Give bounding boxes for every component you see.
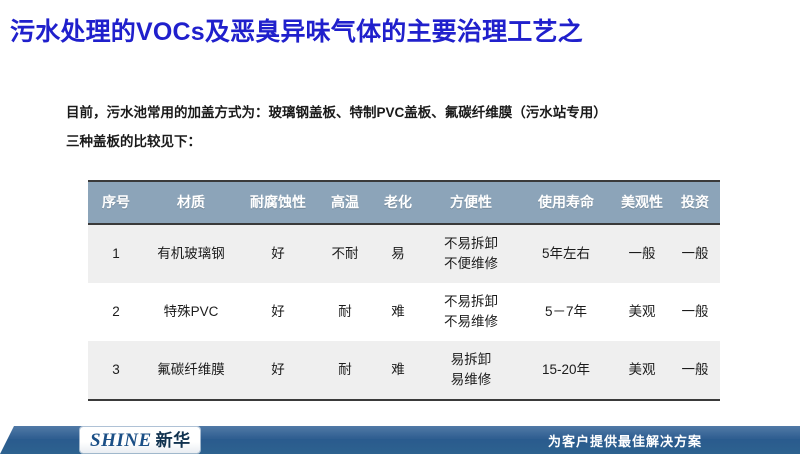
- cell-convenience-line-2: 易维修: [424, 370, 518, 390]
- body-line-2: 三种盖板的比较见下：: [66, 127, 766, 156]
- cell-high-temp: 不耐: [318, 224, 372, 283]
- comparison-table: 序号 材质 耐腐蚀性 高温 老化 方便性 使用寿命 美观性 投资 1 有机玻璃钢…: [88, 180, 720, 401]
- cell-aesthetics: 一般: [614, 224, 670, 283]
- column-header-no: 序号: [88, 181, 144, 224]
- cell-lifespan: 5年左右: [518, 224, 614, 283]
- cell-aesthetics: 美观: [614, 283, 670, 341]
- table-body: 1 有机玻璃钢 好 不耐 易 不易拆卸 不便维修 5年左右 一般 一般 2 特殊…: [88, 224, 720, 400]
- cell-aesthetics: 美观: [614, 341, 670, 400]
- slide-canvas: 污水处理的VOCs及恶臭异味气体的主要治理工艺之 目前，污水池常用的加盖方式为：…: [0, 0, 800, 454]
- cell-no: 1: [88, 224, 144, 283]
- cell-high-temp: 耐: [318, 283, 372, 341]
- body-paragraph: 目前，污水池常用的加盖方式为：玻璃钢盖板、特制PVC盖板、氟碳纤维膜（污水站专用…: [66, 98, 766, 156]
- cell-aging: 难: [372, 283, 424, 341]
- cell-aging: 难: [372, 341, 424, 400]
- slide-footer: SHINE 新华 为客户提供最佳解决方案: [0, 426, 800, 454]
- table-header-row: 序号 材质 耐腐蚀性 高温 老化 方便性 使用寿命 美观性 投资: [88, 181, 720, 224]
- cell-convenience: 不易拆卸 不便维修: [424, 224, 518, 283]
- cell-aging: 易: [372, 224, 424, 283]
- cell-convenience-line-1: 不易拆卸: [424, 234, 518, 254]
- cell-corrosion: 好: [238, 341, 318, 400]
- column-header-aesthetics: 美观性: [614, 181, 670, 224]
- cell-high-temp: 耐: [318, 341, 372, 400]
- cell-investment: 一般: [670, 283, 720, 341]
- company-logo: SHINE 新华: [80, 427, 200, 453]
- column-header-investment: 投资: [670, 181, 720, 224]
- cell-investment: 一般: [670, 341, 720, 400]
- body-line-1: 目前，污水池常用的加盖方式为：玻璃钢盖板、特制PVC盖板、氟碳纤维膜（污水站专用…: [66, 98, 766, 127]
- column-header-material: 材质: [144, 181, 238, 224]
- table-header: 序号 材质 耐腐蚀性 高温 老化 方便性 使用寿命 美观性 投资: [88, 181, 720, 224]
- table-row: 1 有机玻璃钢 好 不耐 易 不易拆卸 不便维修 5年左右 一般 一般: [88, 224, 720, 283]
- footer-tagline: 为客户提供最佳解决方案: [548, 426, 702, 454]
- column-header-convenience: 方便性: [424, 181, 518, 224]
- column-header-high-temp: 高温: [318, 181, 372, 224]
- cell-convenience: 不易拆卸 不易维修: [424, 283, 518, 341]
- cell-convenience-line-2: 不易维修: [424, 312, 518, 332]
- column-header-aging: 老化: [372, 181, 424, 224]
- comparison-table-wrapper: 序号 材质 耐腐蚀性 高温 老化 方便性 使用寿命 美观性 投资 1 有机玻璃钢…: [88, 180, 720, 401]
- column-header-corrosion: 耐腐蚀性: [238, 181, 318, 224]
- cell-investment: 一般: [670, 224, 720, 283]
- cell-corrosion: 好: [238, 224, 318, 283]
- cell-convenience-line-1: 不易拆卸: [424, 292, 518, 312]
- logo-text-en: SHINE: [90, 431, 152, 450]
- cell-convenience: 易拆卸 易维修: [424, 341, 518, 400]
- cell-lifespan: 5－7年: [518, 283, 614, 341]
- cell-material: 氟碳纤维膜: [144, 341, 238, 400]
- page-title: 污水处理的VOCs及恶臭异味气体的主要治理工艺之: [10, 17, 583, 48]
- cell-lifespan: 15-20年: [518, 341, 614, 400]
- column-header-lifespan: 使用寿命: [518, 181, 614, 224]
- logo-text-cn: 新华: [156, 432, 191, 449]
- cell-no: 2: [88, 283, 144, 341]
- cell-convenience-line-1: 易拆卸: [424, 350, 518, 370]
- cell-no: 3: [88, 341, 144, 400]
- cell-corrosion: 好: [238, 283, 318, 341]
- cell-convenience-line-2: 不便维修: [424, 254, 518, 274]
- table-row: 2 特殊PVC 好 耐 难 不易拆卸 不易维修 5－7年 美观 一般: [88, 283, 720, 341]
- cell-material: 特殊PVC: [144, 283, 238, 341]
- table-row: 3 氟碳纤维膜 好 耐 难 易拆卸 易维修 15-20年 美观 一般: [88, 341, 720, 400]
- cell-material: 有机玻璃钢: [144, 224, 238, 283]
